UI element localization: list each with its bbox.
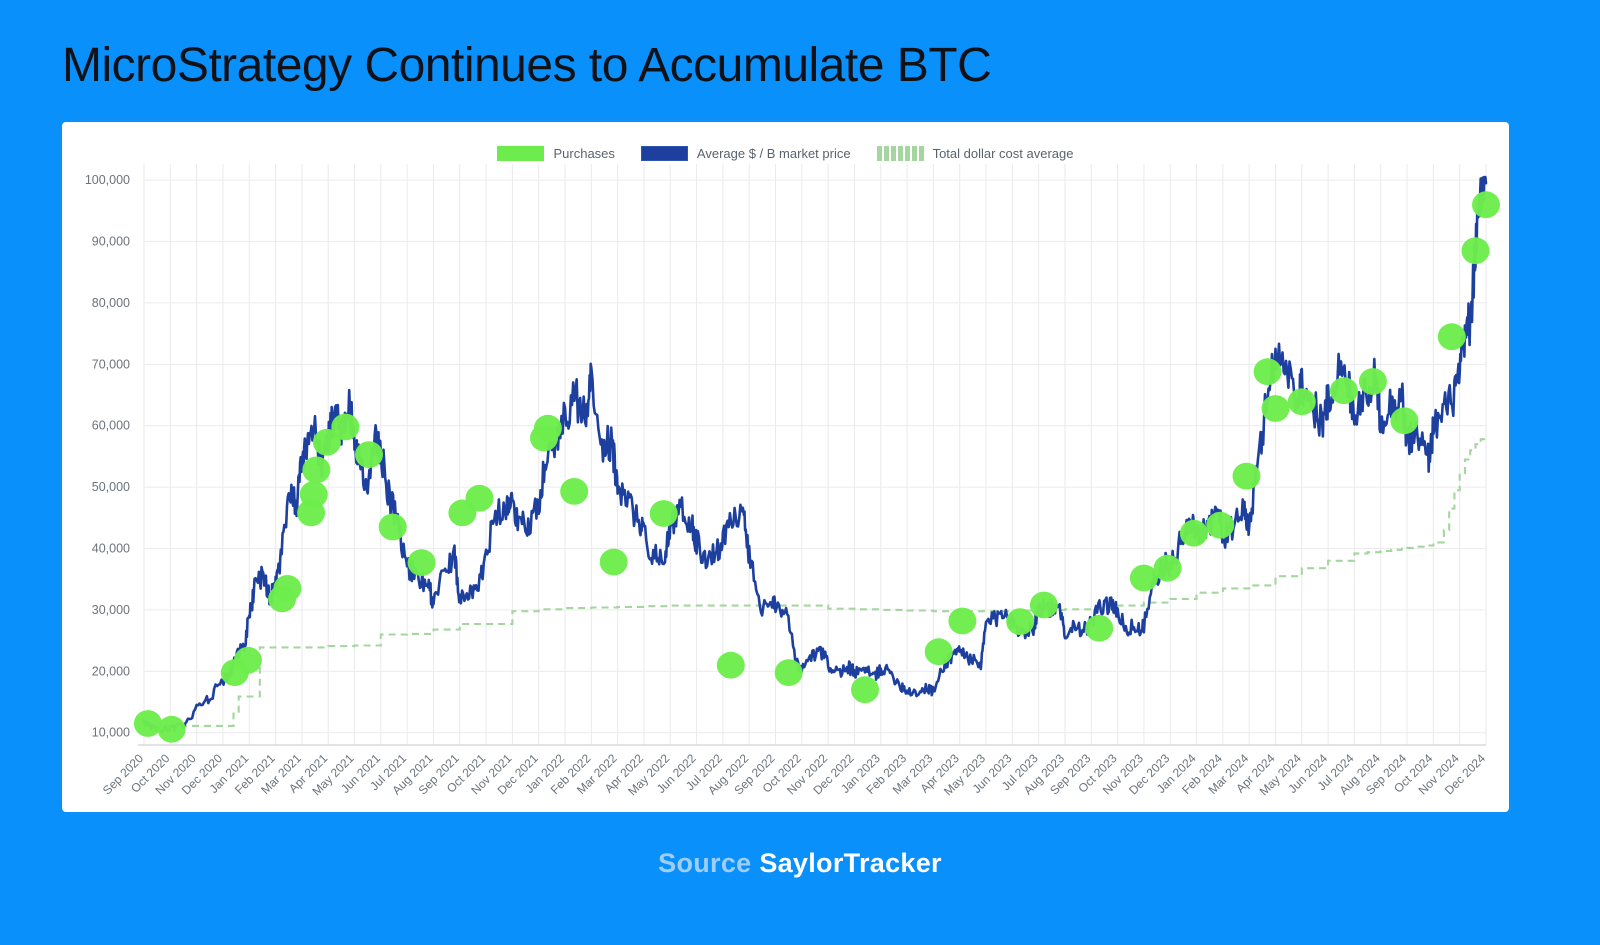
series-purchases bbox=[134, 191, 1500, 742]
svg-text:30,000: 30,000 bbox=[92, 603, 130, 617]
svg-text:100,000: 100,000 bbox=[85, 173, 130, 187]
x-axis-ticks: Sep 2020Oct 2020Nov 2020Dec 2020Jan 2021… bbox=[100, 751, 1488, 798]
source-name: SaylorTracker bbox=[759, 848, 942, 878]
source-attribution: Source SaylorTracker bbox=[0, 848, 1600, 879]
plot-area[interactable]: 10,00020,00030,00040,00050,00060,00070,0… bbox=[62, 122, 1509, 812]
svg-text:50,000: 50,000 bbox=[92, 480, 130, 494]
source-prefix: Source bbox=[658, 848, 751, 878]
svg-text:70,000: 70,000 bbox=[92, 357, 130, 371]
svg-text:60,000: 60,000 bbox=[92, 419, 130, 433]
poster-root: MicroStrategy Continues to Accumulate BT… bbox=[0, 0, 1600, 945]
series-average-market-price bbox=[144, 177, 1486, 732]
series-total-dollar-cost-average bbox=[144, 437, 1486, 726]
y-axis-ticks: 10,00020,00030,00040,00050,00060,00070,0… bbox=[85, 173, 130, 740]
svg-text:10,000: 10,000 bbox=[92, 726, 130, 740]
svg-text:80,000: 80,000 bbox=[92, 296, 130, 310]
chart-card: Purchases Average $ / B market price Tot… bbox=[62, 122, 1509, 812]
page-title: MicroStrategy Continues to Accumulate BT… bbox=[62, 38, 991, 93]
svg-text:40,000: 40,000 bbox=[92, 542, 130, 556]
svg-text:90,000: 90,000 bbox=[92, 235, 130, 249]
svg-text:20,000: 20,000 bbox=[92, 664, 130, 678]
chart-canvas[interactable]: 10,00020,00030,00040,00050,00060,00070,0… bbox=[62, 122, 1509, 812]
